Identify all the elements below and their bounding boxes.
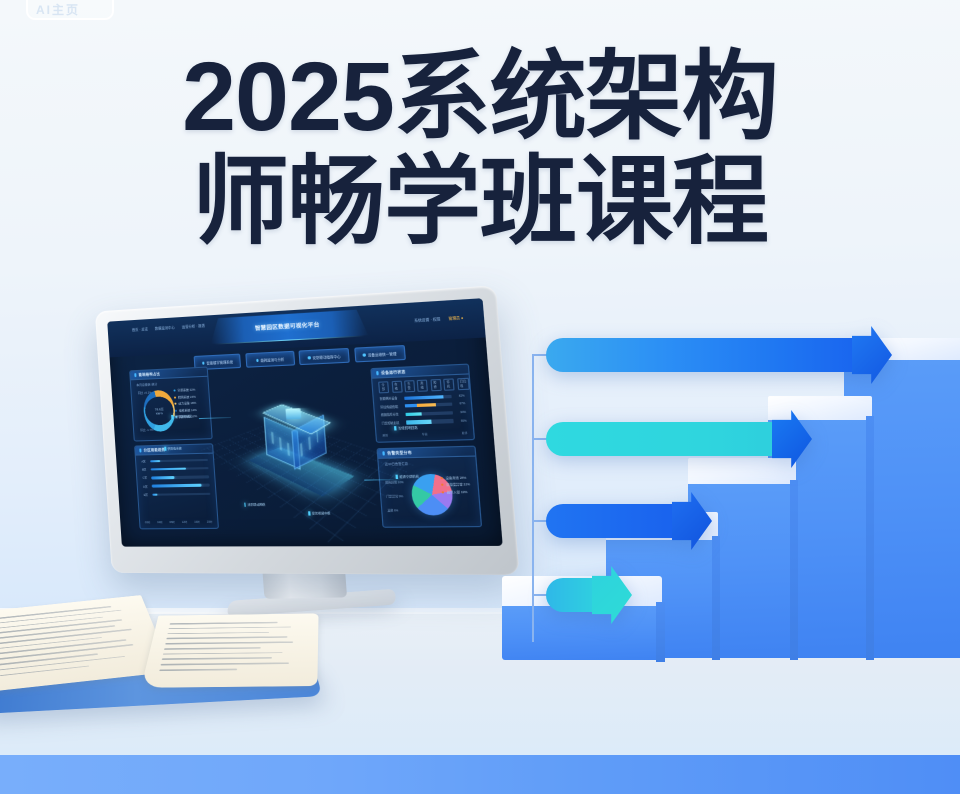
bar-fill — [151, 468, 186, 471]
server-rack — [301, 443, 304, 456]
hbar-track — [405, 403, 452, 408]
callout-power: 供配电系统 — [164, 446, 182, 451]
callout-lighting: 智能照明回路 — [394, 426, 417, 431]
bar-row: D区 — [138, 483, 215, 488]
hbar-label: 智能网关设备 — [380, 396, 402, 401]
legend-swatch — [174, 409, 176, 411]
hbar-track — [406, 419, 453, 424]
callout-fire: 消防联动网络 — [244, 503, 266, 507]
menu-item-admin[interactable]: 管理员 ● — [448, 315, 463, 321]
monitor-screen: 智慧园区数据可视化平台 首页 · 总览 数据监测中心 运营分析 · 报表 系统设… — [107, 298, 503, 546]
hbar-row: 环境传感终端67% — [375, 402, 472, 410]
footer-refresh[interactable]: 刷新 — [382, 433, 388, 437]
hbar-label: 视频监控点位 — [381, 412, 403, 417]
bottom-accent-bar — [0, 755, 960, 794]
nav-dot-icon — [308, 356, 311, 359]
hbar-row: 视频监控点位34% — [375, 410, 472, 418]
bar-track — [152, 492, 210, 495]
nav-button-ops[interactable]: 设备运维统一管理 — [354, 345, 406, 362]
bar-row: C区 — [137, 475, 214, 481]
legend-label: 空调系统 32% — [177, 388, 195, 393]
axis-tick: 12时 — [182, 520, 188, 524]
arrow-body — [546, 422, 774, 456]
headline-line-2: 师畅学班课程 — [0, 150, 960, 254]
tab-archived[interactable]: 已归档 — [457, 377, 471, 390]
callout-label: 供配电系统 — [167, 446, 181, 450]
status-tabs[interactable]: 全部 在线 告警 离线 检修 停机 已归档 — [372, 374, 470, 393]
legend-label: 越界入侵 19% — [447, 490, 468, 495]
bar-axis: 00时 04时 08时 12时 16时 20时 — [145, 519, 213, 524]
legend-label: 照明系统 24% — [178, 394, 196, 399]
dashboard-title: 智慧园区数据可视化平台 — [255, 321, 320, 332]
callout-label: 智能照明回路 — [398, 426, 418, 431]
bar-fill — [152, 484, 201, 487]
legend-swatch — [174, 403, 176, 405]
top-left-badge: AI主页 — [26, 0, 114, 20]
callout-dot-icon — [394, 426, 396, 430]
bar-row: B区 — [137, 466, 214, 472]
panel-title: 设备运行状态 — [381, 369, 406, 375]
pie-side-tag: 门禁异常 9% — [386, 494, 403, 499]
arrow-body — [546, 504, 674, 538]
book-text-lines-right — [141, 613, 319, 687]
tab-online[interactable]: 在线 — [391, 380, 402, 392]
step-side-face — [712, 536, 720, 660]
pie-legend: 设备离线 28% 温湿度异常 22% 越界入侵 19% — [441, 475, 476, 497]
hbar-track — [404, 395, 451, 400]
pie-side-tag: 其他 6% — [387, 508, 398, 512]
legend-item: 温湿度异常 22% — [441, 482, 475, 487]
cube-core-node — [285, 408, 301, 419]
menu-item-home[interactable]: 首页 · 总览 — [132, 326, 148, 332]
legend-label: 动力设备 18% — [178, 401, 196, 406]
open-book-prop — [0, 569, 340, 748]
isometric-building-model: 楼宇主控单元 供配电系统 智能照明回路 暖通空调机组 消防联动网络 安防视频中枢 — [228, 378, 366, 514]
callout-label: 楼宇主控单元 — [175, 415, 192, 420]
panel-title: 告警类型分布 — [387, 450, 412, 456]
hbar-label: 环境传感终端 — [380, 404, 402, 409]
3d-growth-staircase — [492, 330, 960, 730]
bar-track — [150, 459, 207, 463]
legend-item: 电梯系统 14% — [174, 407, 205, 412]
monitor-chin — [122, 550, 504, 568]
step-side-face — [790, 480, 798, 660]
legend-swatch — [441, 484, 444, 486]
axis-tick: 16时 — [194, 520, 200, 524]
legend-label: 温湿度异常 22% — [446, 482, 470, 487]
legend-swatch — [441, 477, 444, 479]
hbar-value: 82% — [454, 394, 465, 398]
hbar-fill — [404, 395, 443, 400]
bar-fill — [150, 460, 160, 463]
legend-item: 照明系统 24% — [174, 394, 205, 399]
callout-label: 暖通空调机组 — [399, 475, 419, 480]
arrow-level-3 — [546, 422, 812, 456]
nav-dot-icon — [363, 354, 366, 357]
callout-hvac: 暖通空调机组 — [396, 475, 419, 480]
arrow-level-2 — [546, 504, 712, 538]
donut-chart: 78.6万 kW·h — [142, 390, 176, 432]
nav-dot-icon — [256, 359, 259, 362]
bar-track — [151, 467, 208, 471]
nav-dot-icon — [202, 362, 205, 365]
legend-label: 电梯系统 14% — [179, 408, 197, 413]
hbar-fill — [405, 412, 421, 416]
step-front-face — [502, 606, 662, 660]
callout-dot-icon — [308, 512, 310, 516]
footer-more[interactable]: 更多 — [462, 430, 468, 435]
legend-swatch — [173, 389, 175, 391]
step-side-face — [866, 416, 874, 660]
headline-line-1: 2025系统架构 — [0, 46, 960, 148]
promo-banner: AI主页 2025系统架构 师畅学班课程 智慧园区数据可视化平台 首页 · 总览… — [0, 0, 960, 794]
legend-swatch — [442, 491, 445, 493]
hbar-row: 门禁控制主机55% — [376, 418, 473, 425]
tab-stopped[interactable]: 停机 — [443, 378, 454, 391]
hbar-track — [405, 411, 452, 416]
callout-dot-icon — [164, 446, 166, 450]
bar-label: D区 — [143, 484, 149, 488]
legend-label: 设备离线 28% — [445, 475, 466, 480]
donut-center-label: 78.6万 kW·h — [142, 390, 176, 432]
server-rack — [309, 436, 312, 449]
nav-button-label: 设备运维统一管理 — [368, 351, 397, 358]
bar-label: A区 — [141, 459, 147, 463]
bar-row: E区 — [138, 491, 215, 496]
nav-button-label: 安防联动指挥中心 — [312, 354, 340, 361]
panel-zone-trend: 分区用能趋势 A区 B区 C区 D区 E区 00时 04时 08时 12时 16… — [134, 443, 218, 529]
callout-cctv: 安防视频中枢 — [308, 511, 330, 515]
legend-item: 动力设备 18% — [174, 401, 205, 406]
callout-dot-icon — [244, 503, 246, 507]
step-side-face — [656, 602, 665, 662]
nav-button-energy[interactable]: 能耗监测与分析 — [246, 351, 295, 368]
panel-title: 分区用能趋势 — [143, 447, 165, 453]
iso-cube — [261, 406, 330, 471]
arrow-level-1 — [546, 578, 632, 612]
panel-marker-icon — [134, 373, 136, 377]
axis-tick: 20时 — [207, 519, 213, 523]
server-rack — [316, 430, 319, 443]
bar-fill — [151, 476, 174, 479]
axis-tick: 04时 — [157, 520, 163, 524]
bar-label: E区 — [143, 493, 149, 497]
arrow-level-4 — [546, 338, 892, 372]
legend-swatch — [174, 396, 176, 398]
donut-unit: kW·h — [156, 411, 163, 415]
panel-marker-icon — [376, 370, 379, 374]
server-rack — [271, 432, 274, 445]
hbar-fill — [405, 403, 437, 408]
nav-button-label: 智能楼宇管理系统 — [206, 359, 233, 365]
hbar-value: 67% — [455, 402, 466, 406]
tab-repair[interactable]: 检修 — [430, 378, 441, 391]
legend-item: 越界入侵 19% — [442, 490, 476, 495]
monitor-bezel: 智慧园区数据可视化平台 首页 · 总览 数据监测中心 运营分析 · 报表 系统设… — [95, 285, 520, 575]
legend-item: 设备离线 28% — [441, 475, 475, 480]
bar-label: B区 — [142, 468, 148, 472]
hbar-value: 34% — [456, 411, 467, 415]
page-title: 2025系统架构 师畅学班课程 — [0, 46, 960, 254]
callout-main-control: 楼宇主控单元 — [172, 415, 193, 420]
bar-track — [151, 476, 208, 480]
panel-energy-structure: 能耗结构占比 本月总能耗 统计 同比 +6.2% 环比 -1.7% 78.6万 … — [129, 366, 212, 442]
guide-line — [532, 354, 534, 642]
hbar-row: 智能网关设备82% — [374, 393, 471, 401]
callout-label: 安防视频中枢 — [312, 511, 331, 515]
dashboard: 智慧园区数据可视化平台 首页 · 总览 数据监测中心 运营分析 · 报表 系统设… — [107, 298, 503, 546]
axis-tick: 08时 — [169, 520, 175, 524]
tab-offline[interactable]: 离线 — [417, 379, 428, 392]
bar-row: A区 — [136, 458, 212, 464]
legend-item: 空调系统 32% — [173, 387, 204, 392]
hbar-label: 门禁控制主机 — [381, 421, 403, 426]
server-rack — [287, 443, 290, 456]
callout-dot-icon — [396, 475, 398, 479]
arrow-body — [546, 338, 854, 372]
book-page-right — [141, 613, 319, 687]
nav-button-security[interactable]: 安防联动指挥中心 — [299, 348, 350, 365]
nav-button-label: 能耗监测与分析 — [260, 356, 284, 362]
top-left-badge-label: AI主页 — [36, 4, 80, 16]
callout-dot-icon — [172, 415, 174, 419]
footer-export[interactable]: 导出 — [422, 432, 428, 437]
axis-tick: 00时 — [145, 520, 151, 524]
arrow-body — [546, 578, 594, 612]
panel-title: 能耗结构占比 — [138, 371, 160, 377]
server-rack — [279, 437, 282, 450]
bar-track — [152, 484, 209, 487]
callout-label: 消防联动网络 — [247, 503, 265, 507]
panel-marker-icon — [139, 448, 141, 452]
bar-fill — [152, 493, 157, 496]
hbar-fill — [406, 420, 432, 424]
hbar-footer[interactable]: 刷新 导出 更多 — [382, 430, 467, 437]
bar-label: C区 — [142, 476, 148, 480]
hbar-value: 55% — [456, 419, 467, 423]
callout-line — [198, 417, 230, 419]
tab-all[interactable]: 全部 — [378, 381, 389, 393]
tab-alarm[interactable]: 告警 — [404, 380, 415, 392]
